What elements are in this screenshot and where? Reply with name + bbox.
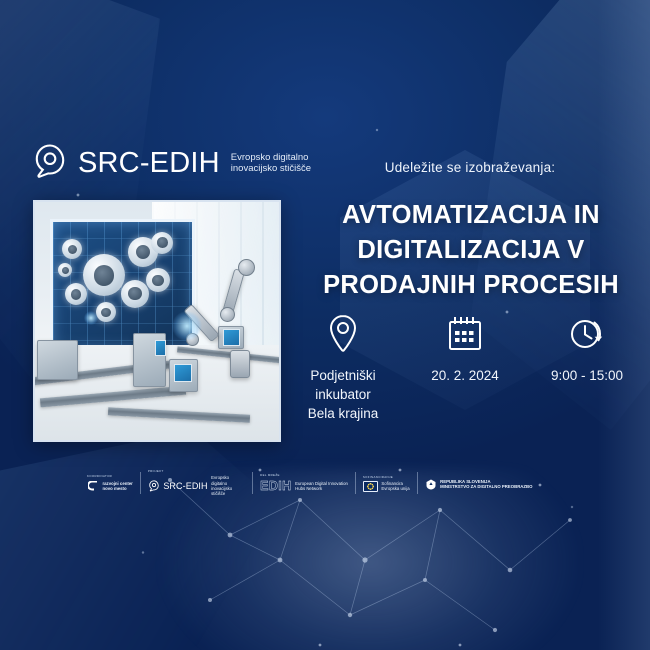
footer-logo-bar: KOORDINATOR razvojni center novo mesto P…: [80, 466, 590, 500]
machine-unit: [37, 340, 78, 380]
footer-text-project-1: SRC-EDIH: [163, 481, 207, 491]
footer-label-project: PROJEKT: [148, 469, 245, 473]
footer-network: DEL MREŽE EDIH European Digital Innovati…: [253, 466, 355, 500]
location-line-2: inkubator: [308, 385, 379, 404]
location-pin-icon: [328, 312, 358, 356]
gear-icon: [151, 232, 173, 254]
slovenia-coat-of-arms-icon: [425, 478, 437, 490]
gear-icon: [96, 302, 116, 322]
footer-text-project-2: Evropsko digitalno inovacijsko stičišče: [211, 475, 245, 497]
eu-flag-icon: [363, 481, 378, 492]
footer-cofunding: SOFINANCIRANJE Sofinancira Evropska unij…: [356, 466, 417, 500]
machine-screen: [155, 340, 167, 356]
machine-screen: [223, 329, 240, 345]
kicker-text: Udeležite se izobraževanja:: [300, 160, 640, 175]
event-location: Podjetniški inkubator Bela krajina: [282, 312, 404, 423]
title-line-3: PRODAJNIH PROCESIH: [296, 268, 646, 303]
location-line-1: Podjetniški: [308, 366, 379, 385]
machine-screen: [174, 364, 192, 383]
footer-project: PROJEKT SRC-EDIH Evropsko digitalno inov…: [141, 466, 252, 500]
date-line-1: 20. 2. 2024: [431, 366, 499, 385]
footer-ministry: REPUBLIKA SLOVENIJA MINISTRSTVO ZA DIGIT…: [418, 466, 540, 500]
location-line-3: Bela krajina: [308, 404, 379, 423]
event-time-text: 9:00 - 15:00: [551, 366, 623, 385]
footer-text-ministry-2: MINISTRSTVO ZA DIGITALNO PREOBRAZBO: [440, 484, 532, 489]
rc-novo-mesto-logo: [87, 480, 99, 492]
footer-text-cofunding-2: Evropska unija: [381, 486, 409, 491]
spark-glow: [172, 311, 202, 341]
edih-logo: EDIH: [260, 479, 291, 493]
title-line-2: DIGITALIZACIJA V: [296, 233, 646, 268]
footer-text-network-2: Hubs Network: [295, 486, 348, 491]
footer-label-coordinator: KOORDINATOR: [87, 474, 133, 478]
location-pin-icon: [33, 143, 67, 183]
time-line-1: 9:00 - 15:00: [551, 366, 623, 385]
footer-label-network: DEL MREŽE: [260, 473, 348, 477]
footer-coordinator: KOORDINATOR razvojni center novo mesto: [80, 466, 140, 500]
brand-logo: SRC-EDIH Evropsko digitalno inovacijsko …: [33, 143, 319, 183]
footer-label-cofunding: SOFINANCIRANJE: [363, 475, 410, 479]
gear-icon: [146, 268, 170, 292]
event-details-row: Podjetniški inkubator Bela krajina: [282, 312, 648, 423]
event-location-text: Podjetniški inkubator Bela krajina: [308, 366, 379, 423]
event-date: 20. 2. 2024: [404, 312, 526, 423]
event-promo-poster: SRC-EDIH Evropsko digitalno inovacijsko …: [0, 0, 650, 650]
gear-icon: [121, 280, 149, 308]
calendar-icon: [446, 312, 484, 356]
footer-text-coordinator-2: novo mesto: [103, 486, 133, 491]
brand-name: SRC-EDIH: [78, 149, 220, 178]
event-time: 9:00 - 15:00: [526, 312, 648, 423]
hero-scene: [35, 202, 279, 440]
hero-image: [33, 200, 281, 442]
robot-arm-base: [230, 350, 250, 378]
title-line-1: AVTOMATIZACIJA IN: [296, 198, 646, 233]
clock-history-icon: [567, 312, 607, 356]
location-pin-icon: [148, 480, 160, 492]
page-title: AVTOMATIZACIJA IN DIGITALIZACIJA V PRODA…: [296, 198, 646, 303]
robot-arm-joint: [238, 259, 255, 276]
event-date-text: 20. 2. 2024: [431, 366, 499, 385]
